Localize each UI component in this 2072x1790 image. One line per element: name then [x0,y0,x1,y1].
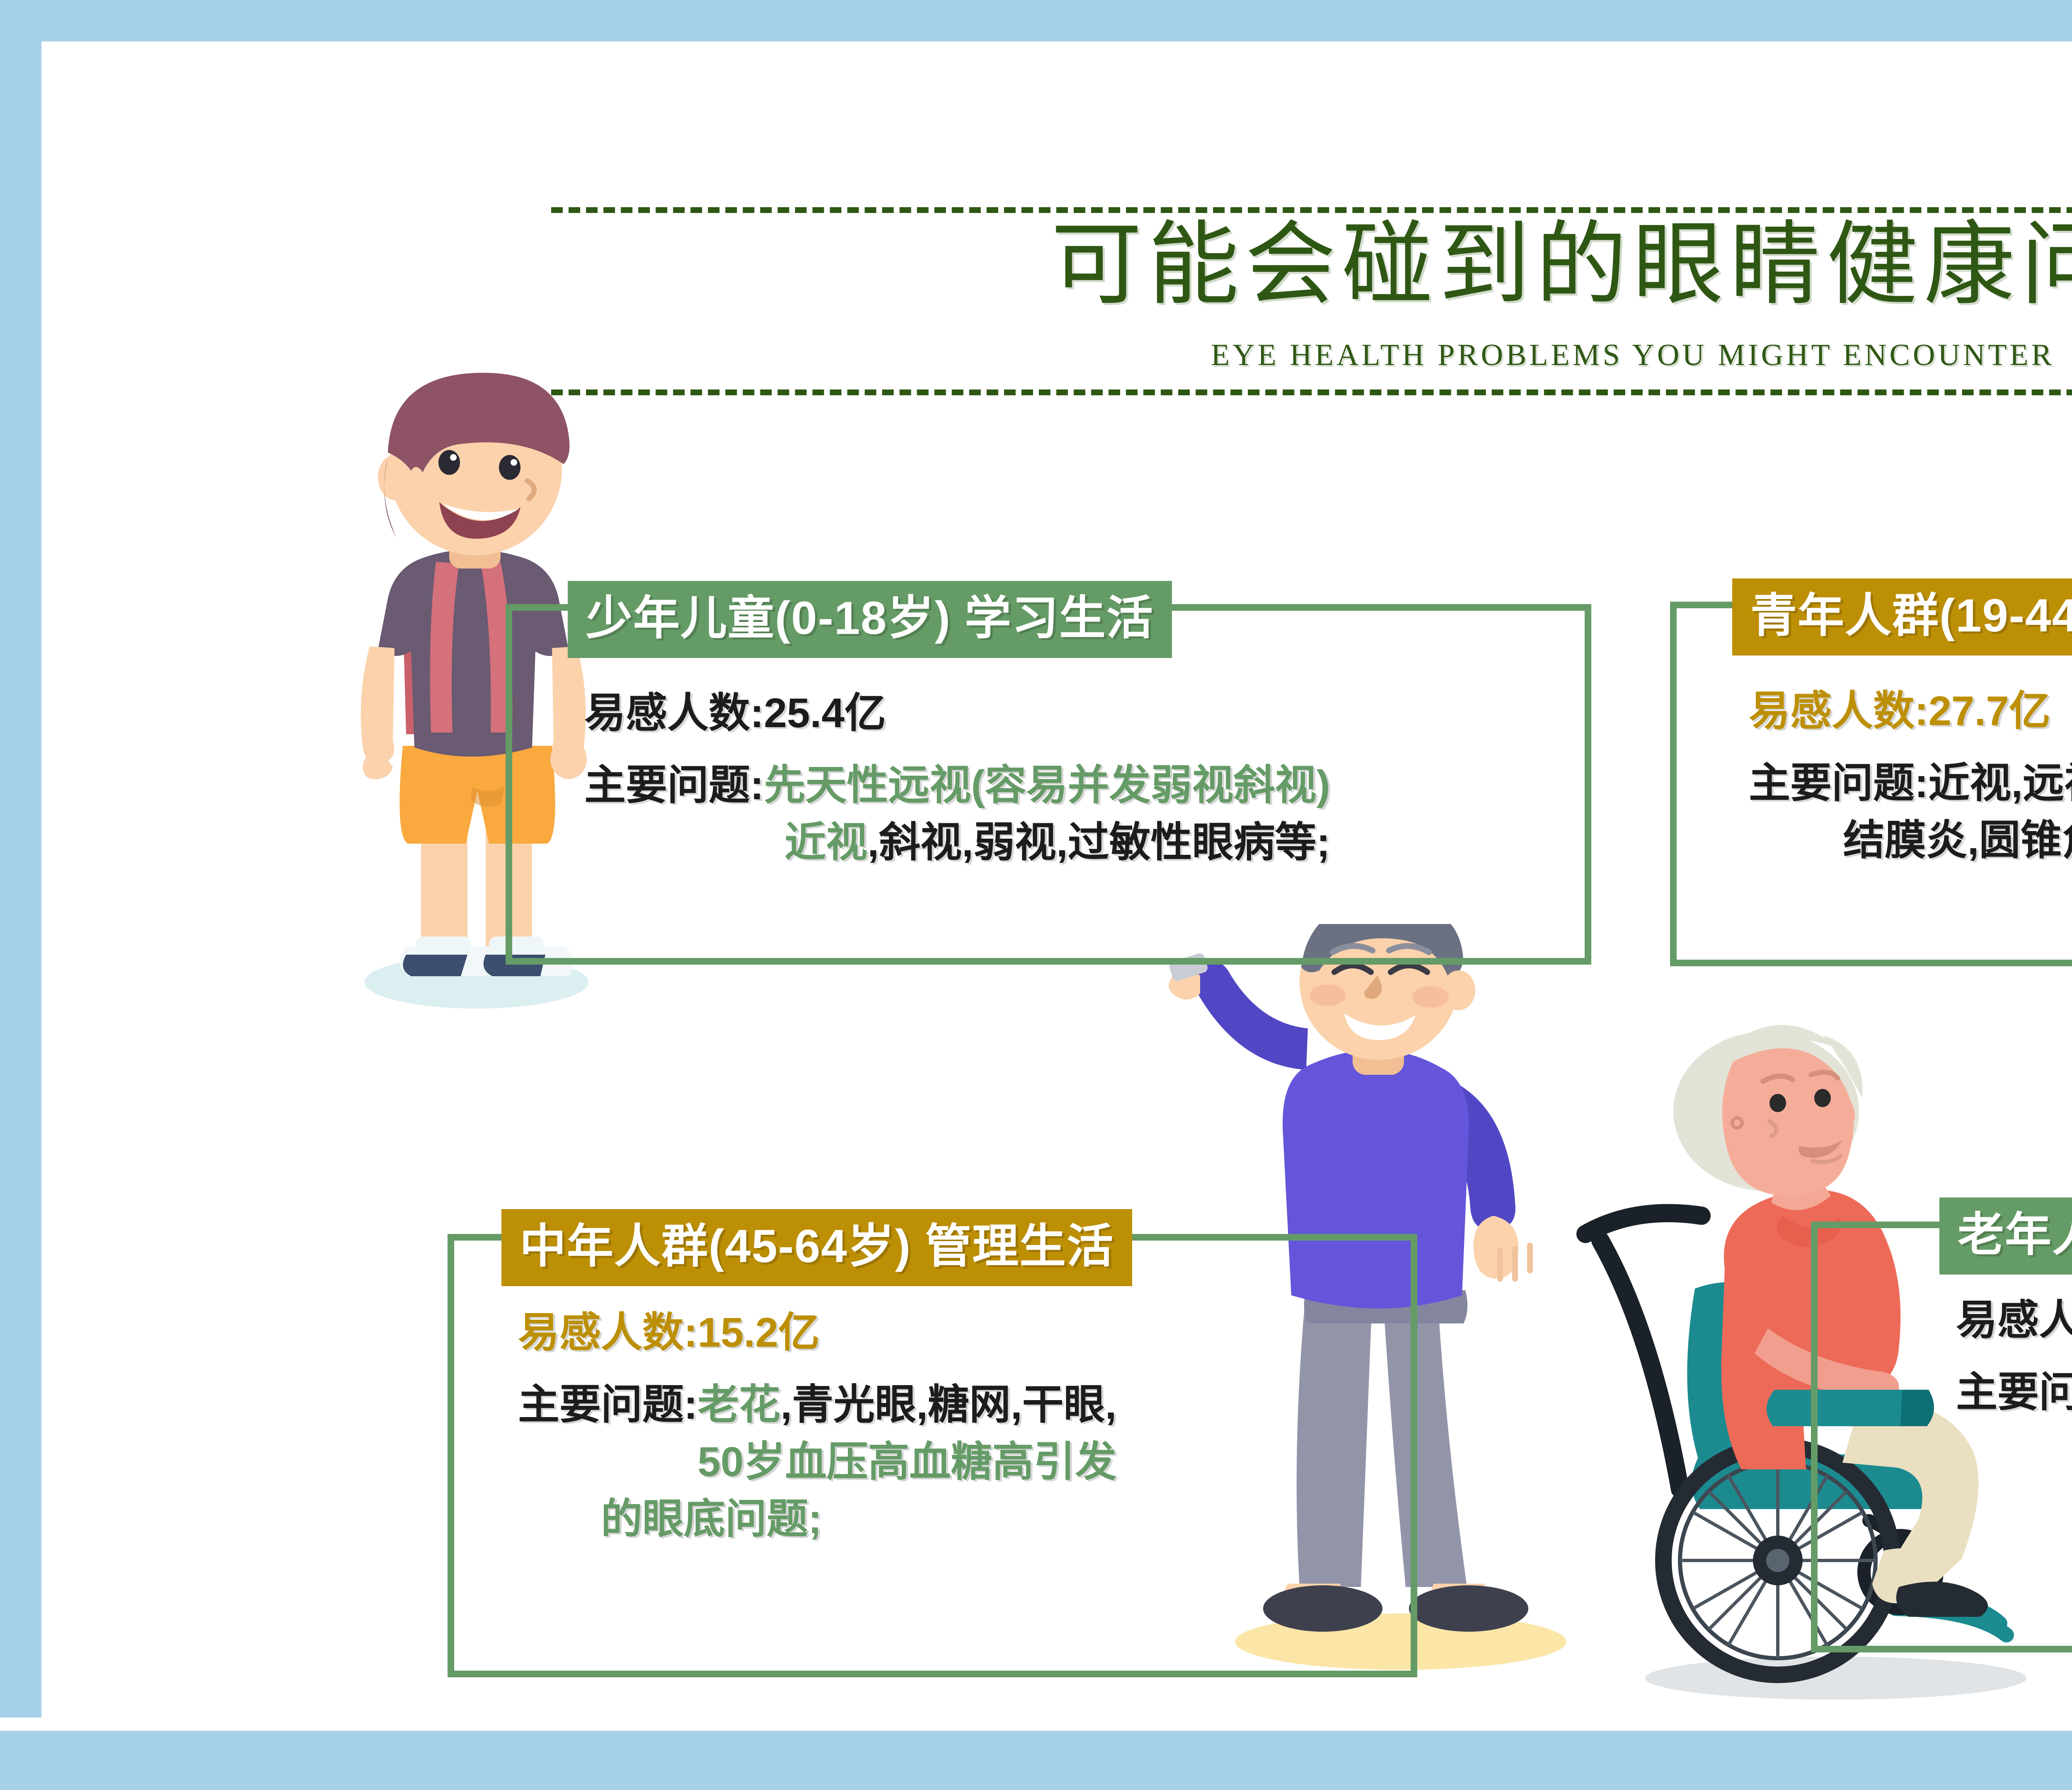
page-subtitle: EYE HEALTH PROBLEMS YOU MIGHT ENCOUNTER [41,340,2072,370]
susceptible-line-youth: 易感人数:27.7亿 [1749,688,2072,734]
bottom-white-band [0,1717,2072,1731]
problem-line: 主要问题:60岁白内障,AMD,青光眼 [1956,1369,2072,1415]
card-body-youth: 易感人数:27.7亿 主要问题:近视,远视,视觉疲劳, 结膜炎,圆锥角膜,干眼症… [1749,688,2072,864]
problem-line: 主要问题:先天性远视(容易并发弱视斜视) [584,762,1330,808]
problem-line: 近视,斜视,弱视,过敏性眼病等; [584,819,1330,866]
susceptible-value: 15.2亿 [697,1309,820,1356]
susceptible-label: 易感人数: [1956,1297,2072,1343]
card-body-children: 易感人数:25.4亿 主要问题:先天性远视(容易并发弱视斜视) 近视,斜视,弱视… [584,690,1330,866]
title-divider-bottom [551,389,2072,395]
susceptible-line-elderly: 易感人数:6.3亿 [1956,1297,2072,1343]
card-badge-youth: 青年人群(19-44岁) 打造生活 [1732,578,2072,656]
problem-line: 干眼,80岁左右的眼底病; [1956,1426,2072,1473]
problem-line: 50岁血压高血糖高引发 [518,1439,1116,1485]
susceptible-value: 25.4亿 [764,690,886,736]
susceptible-line-children: 易感人数:25.4亿 [584,690,1330,736]
susceptible-label: 易感人数: [584,690,764,736]
card-badge-elderly: 老年人群(≥65岁) 享受生活 [1939,1197,2072,1275]
card-badge-middle-aged: 中年人群(45-64岁) 管理生活 [501,1209,1132,1286]
card-body-elderly: 易感人数:6.3亿 主要问题:60岁白内障,AMD,青光眼 干眼,80岁左右的眼… [1956,1297,2072,1473]
problem-line: 的眼底问题; [518,1496,1116,1542]
page-title: 可能会碰到的眼睛健康问题 [41,220,2072,311]
card-badge-children: 少年儿童(0-18岁) 学习生活 [568,581,1172,658]
susceptible-label: 易感人数: [1749,688,1928,734]
title-divider-top [551,207,2072,213]
susceptible-line-middle-aged: 易感人数:15.2亿 [518,1309,1116,1356]
card-body-middle-aged: 易感人数:15.2亿 主要问题:老花,青光眼,糖网,干眼, 50岁血压高血糖高引… [518,1309,1116,1542]
problem-line: 结膜炎,圆锥角膜,干眼症; [1749,817,2072,864]
problem-line: 主要问题:近视,远视,视觉疲劳, [1749,760,2072,806]
susceptible-value: 27.7亿 [1928,688,2050,734]
slide-canvas: 可能会碰到的眼睛健康问题 EYE HEALTH PROBLEMS YOU MIG… [41,41,2072,1720]
problem-line: 主要问题:老花,青光眼,糖网,干眼, [518,1381,1116,1428]
susceptible-label: 易感人数: [518,1309,697,1356]
